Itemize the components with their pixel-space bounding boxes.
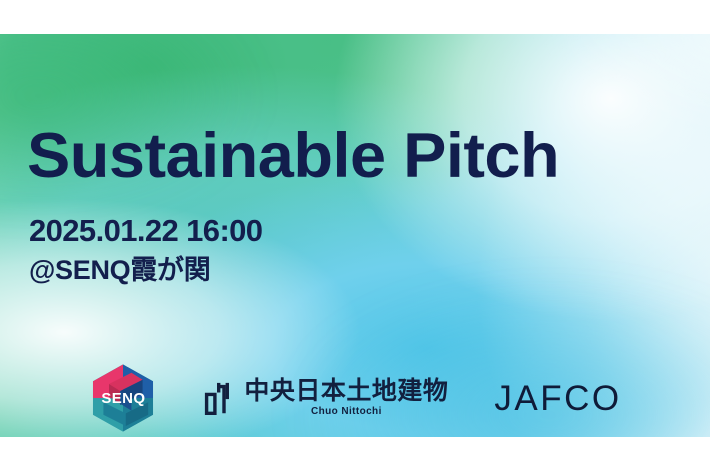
senq-logo: SENQ [88,363,158,433]
chuo-nittochi-name-jp: 中央日本土地建物 [244,378,448,404]
event-datetime: 2025.01.22 16:00 [29,215,262,246]
chuo-nittochi-building-icon [204,381,233,415]
jafco-logo: JAFCO [494,381,621,416]
chuo-nittochi-name-en: Chuo Nittochi [311,406,382,418]
sponsor-logo-row: SENQ 中央日本土地建物 Chuo Nittochi JA [0,362,710,434]
event-venue: @SENQ霞が関 [29,257,210,284]
jafco-wordmark: JAFCO [494,381,621,416]
chuo-nittochi-text: 中央日本土地建物 Chuo Nittochi [244,378,448,418]
page-title: Sustainable Pitch [27,125,559,188]
chuo-nittochi-logo: 中央日本土地建物 Chuo Nittochi [204,378,448,418]
senq-hexagon-icon [88,363,158,433]
event-poster: Sustainable Pitch 2025.01.22 16:00 @SENQ… [0,0,710,474]
